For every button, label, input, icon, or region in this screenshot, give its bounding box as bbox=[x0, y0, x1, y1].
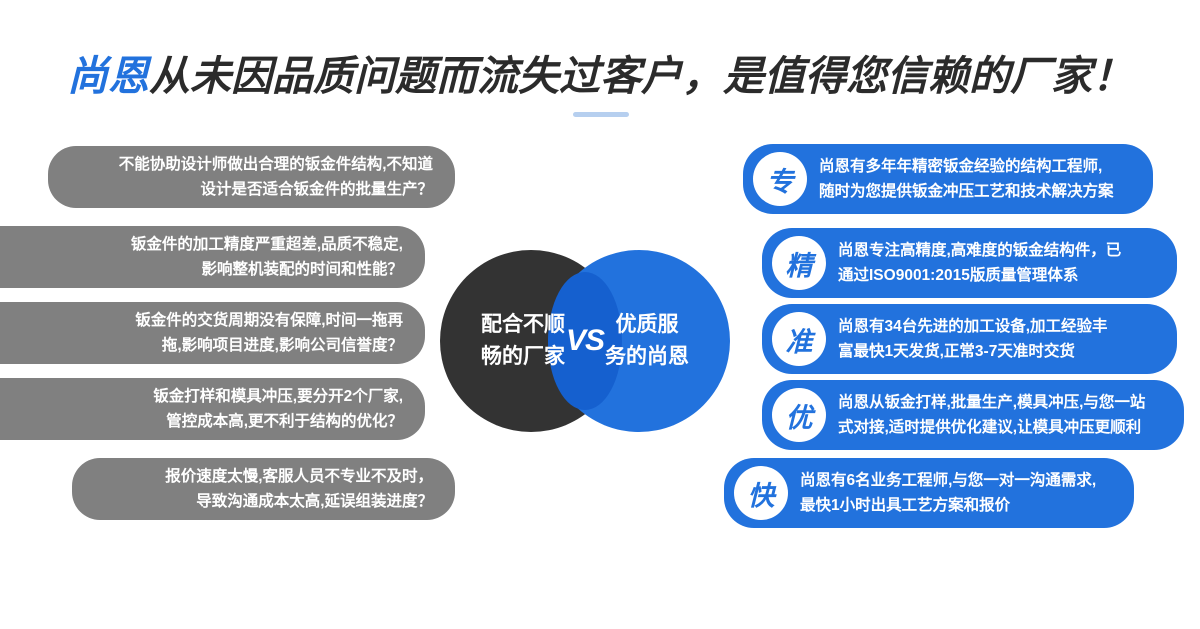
advantage-bubble-3-text: 尚恩有34台先进的加工设备,加工经验丰 富最快1天发货,正常3-7天准时交货 bbox=[838, 314, 1124, 364]
advantage-bubble-1-text: 尚恩有多年年精密钣金经验的结构工程师, 随时为您提供钣金冲压工艺和技术解决方案 bbox=[819, 154, 1130, 204]
problem-bubble-4-text: 钣金打样和模具冲压,要分开2个厂家, 管控成本高,更不利于结构的优化？ bbox=[153, 384, 403, 434]
advantage-bubble-5-text: 尚恩有6名业务工程师,与您一对一沟通需求, 最快1小时出具工艺方案和报价 bbox=[800, 468, 1112, 518]
problem-bubble-2-text: 钣金件的加工精度严重超差,品质不稳定, 影响整机装配的时间和性能？ bbox=[131, 232, 403, 282]
problem-bubble-5: 报价速度太慢,客服人员不专业不及时， 导致沟通成本太高,延误组装进度？ bbox=[72, 458, 455, 520]
title-divider bbox=[573, 112, 629, 117]
problem-bubble-1: 不能协助设计师做出合理的钣金件结构,不知道 设计是否适合钣金件的批量生产？ bbox=[48, 146, 455, 208]
problem-bubble-2: 钣金件的加工精度严重超差,品质不稳定, 影响整机装配的时间和性能？ bbox=[0, 226, 425, 288]
advantage-bubble-4: 优 尚恩从钣金打样,批量生产,模具冲压,与您一站 式对接,适时提供优化建议,让模… bbox=[762, 380, 1184, 450]
problem-bubble-1-line1: 不能协助设计师做出合理的钣金件结构,不知道 bbox=[119, 156, 433, 173]
advantage-bubble-2-text: 尚恩专注高精度,高难度的钣金结构件，已 通过ISO9001:2015版质量管理体… bbox=[838, 238, 1137, 288]
advantage-badge-2: 精 bbox=[772, 236, 826, 290]
venn-advantage-label-line1: 优质服 bbox=[616, 313, 679, 336]
problem-bubble-3-line2: 拖,影响项目进度,影响公司信誉度？ bbox=[162, 337, 403, 354]
advantage-bubble-4-line2: 式对接,适时提供优化建议,让模具冲压更顺利 bbox=[838, 419, 1141, 436]
advantage-bubble-1: 专 尚恩有多年年精密钣金经验的结构工程师, 随时为您提供钣金冲压工艺和技术解决方… bbox=[743, 144, 1153, 214]
problem-bubble-5-line1: 报价速度太慢,客服人员不专业不及时， bbox=[165, 468, 433, 485]
page-title: 尚恩从未因品质问题而流失过客户，是值得您信赖的厂家！ bbox=[0, 52, 1200, 100]
advantage-bubble-2-line1: 尚恩专注高精度,高难度的钣金结构件，已 bbox=[838, 242, 1121, 259]
problem-bubble-4-line2: 管控成本高,更不利于结构的优化？ bbox=[166, 413, 403, 430]
problem-bubble-1-text: 不能协助设计师做出合理的钣金件结构,不知道 设计是否适合钣金件的批量生产？ bbox=[119, 152, 433, 202]
advantage-bubble-4-text: 尚恩从钣金打样,批量生产,模具冲压,与您一站 式对接,适时提供优化建议,让模具冲… bbox=[838, 390, 1161, 440]
venn-diagram: 配合不顺 畅的厂家 优质服 务的尚恩 VS bbox=[440, 250, 770, 450]
problem-bubble-2-line2: 影响整机装配的时间和性能？ bbox=[201, 261, 403, 278]
page-title-rest: 从未因品质问题而流失过客户，是值得您信赖的厂家！ bbox=[149, 53, 1133, 99]
advantage-bubble-3: 准 尚恩有34台先进的加工设备,加工经验丰 富最快1天发货,正常3-7天准时交货 bbox=[762, 304, 1177, 374]
problem-bubble-4-line1: 钣金打样和模具冲压,要分开2个厂家, bbox=[153, 388, 403, 405]
advantage-bubble-5-line1: 尚恩有6名业务工程师,与您一对一沟通需求, bbox=[800, 472, 1096, 489]
venn-vs-label: VS bbox=[548, 250, 622, 432]
brand-name: 尚恩 bbox=[67, 53, 149, 99]
advantage-bubble-4-line1: 尚恩从钣金打样,批量生产,模具冲压,与您一站 bbox=[838, 394, 1145, 411]
problem-bubble-5-line2: 导致沟通成本太高,延误组装进度？ bbox=[196, 493, 433, 510]
problem-bubble-3-text: 钣金件的交货周期没有保障,时间一拖再 拖,影响项目进度,影响公司信誉度？ bbox=[135, 308, 403, 358]
advantage-badge-1: 专 bbox=[753, 152, 807, 206]
advantage-badge-3: 准 bbox=[772, 312, 826, 366]
advantage-bubble-5: 快 尚恩有6名业务工程师,与您一对一沟通需求, 最快1小时出具工艺方案和报价 bbox=[724, 458, 1134, 528]
problem-bubble-3-line1: 钣金件的交货周期没有保障,时间一拖再 bbox=[135, 312, 403, 329]
advantage-bubble-2: 精 尚恩专注高精度,高难度的钣金结构件，已 通过ISO9001:2015版质量管… bbox=[762, 228, 1177, 298]
advantage-bubble-3-line2: 富最快1天发货,正常3-7天准时交货 bbox=[838, 343, 1075, 360]
problem-bubble-5-text: 报价速度太慢,客服人员不专业不及时， 导致沟通成本太高,延误组装进度？ bbox=[165, 464, 433, 514]
problem-bubble-1-line2: 设计是否适合钣金件的批量生产？ bbox=[200, 181, 433, 198]
advantage-bubble-1-line2: 随时为您提供钣金冲压工艺和技术解决方案 bbox=[819, 183, 1114, 200]
advantage-bubble-3-line1: 尚恩有34台先进的加工设备,加工经验丰 bbox=[838, 318, 1108, 335]
advantage-bubble-5-line2: 最快1小时出具工艺方案和报价 bbox=[800, 497, 1010, 514]
advantage-bubble-1-line1: 尚恩有多年年精密钣金经验的结构工程师, bbox=[819, 158, 1102, 175]
problem-bubble-2-line1: 钣金件的加工精度严重超差,品质不稳定, bbox=[131, 236, 403, 253]
advantage-badge-5: 快 bbox=[734, 466, 788, 520]
advantage-badge-4: 优 bbox=[772, 388, 826, 442]
problem-bubble-3: 钣金件的交货周期没有保障,时间一拖再 拖,影响项目进度,影响公司信誉度？ bbox=[0, 302, 425, 364]
problem-bubble-4: 钣金打样和模具冲压,要分开2个厂家, 管控成本高,更不利于结构的优化？ bbox=[0, 378, 425, 440]
header-banner: 尚恩从未因品质问题而流失过客户，是值得您信赖的厂家！ bbox=[0, 0, 1200, 130]
advantage-bubble-2-line2: 通过ISO9001:2015版质量管理体系 bbox=[838, 267, 1078, 284]
